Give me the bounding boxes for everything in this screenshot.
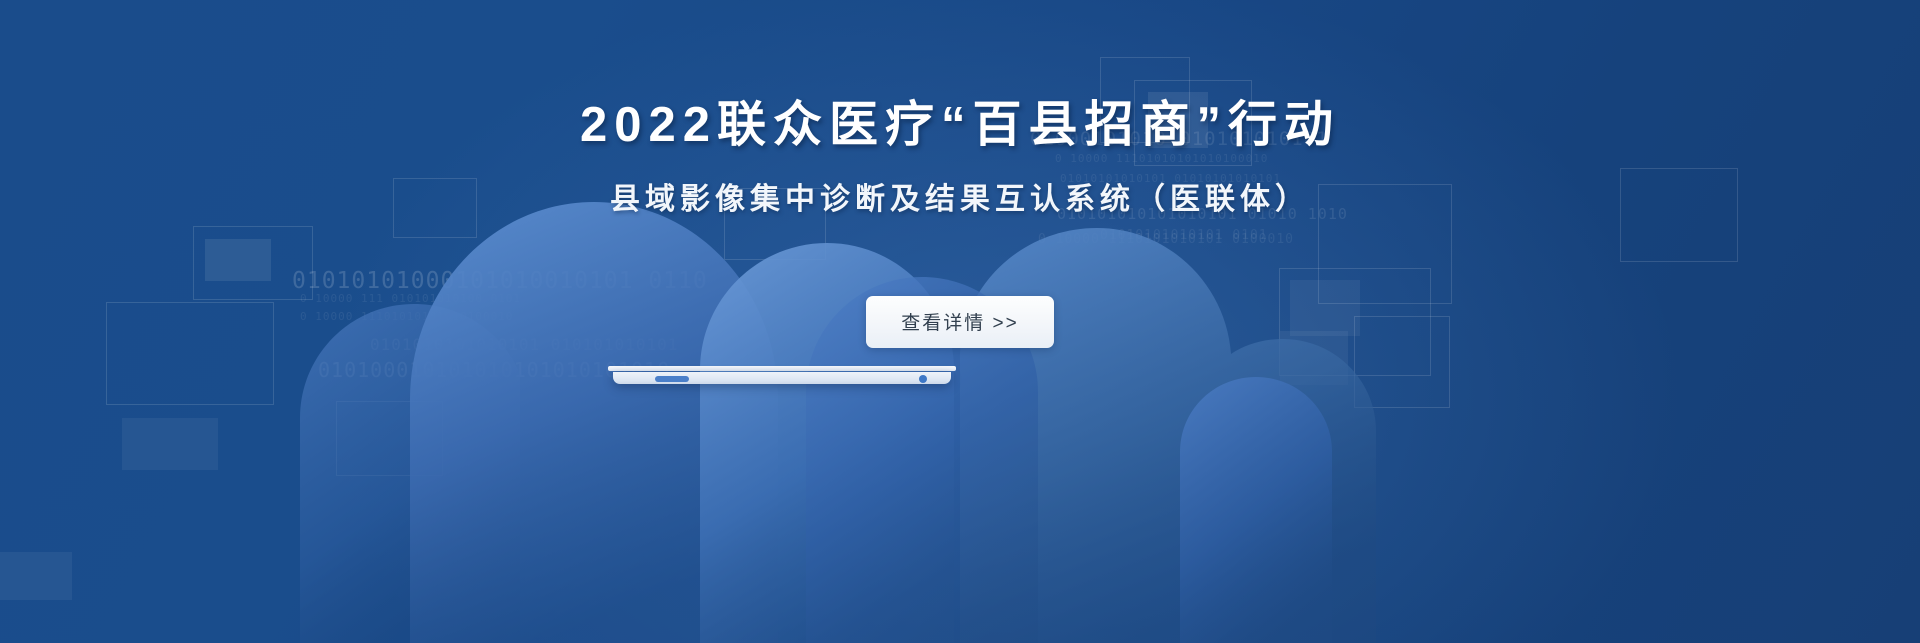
binary-decoration-9: 010101010101010101 01010 1010 bbox=[1057, 205, 1348, 223]
binary-decoration-7: 0 10000 11101010101010100010 bbox=[1055, 152, 1268, 165]
binary-decoration-11: 0 10000 1110101010101 0100010 bbox=[1038, 232, 1294, 247]
laptop-lid-edge bbox=[608, 366, 956, 371]
rect-far-left-fill bbox=[0, 552, 72, 600]
promo-banner: 01010101000101010010101 01100 10000 111 … bbox=[0, 0, 1920, 643]
rect-right-outline-far bbox=[1620, 168, 1738, 262]
rect-left-fill-lower bbox=[122, 418, 218, 470]
view-details-button[interactable]: 查看详情 >> bbox=[866, 296, 1054, 348]
rect-mid-top-outline bbox=[393, 178, 477, 238]
binary-decoration-1: 01010101000101010010101 0110 bbox=[292, 268, 708, 294]
laptop-indicator-dot bbox=[919, 375, 927, 383]
binary-decoration-6: 01000101010 010101010101 bbox=[1030, 128, 1329, 150]
page-title: 2022联众医疗“百县招商”行动 bbox=[0, 96, 1920, 155]
rect-left-fill bbox=[205, 239, 271, 281]
laptop-base-graphic bbox=[608, 366, 956, 385]
rect-mid-outline bbox=[336, 401, 443, 476]
laptop-touchpad-accent bbox=[655, 376, 689, 382]
laptop-body bbox=[613, 372, 951, 384]
cta-container: 查看详情 >> bbox=[0, 296, 1920, 348]
rect-mid-upper-outline bbox=[724, 188, 826, 260]
binary-decoration-8: 01010101010101 01010101010101 bbox=[1060, 172, 1281, 185]
